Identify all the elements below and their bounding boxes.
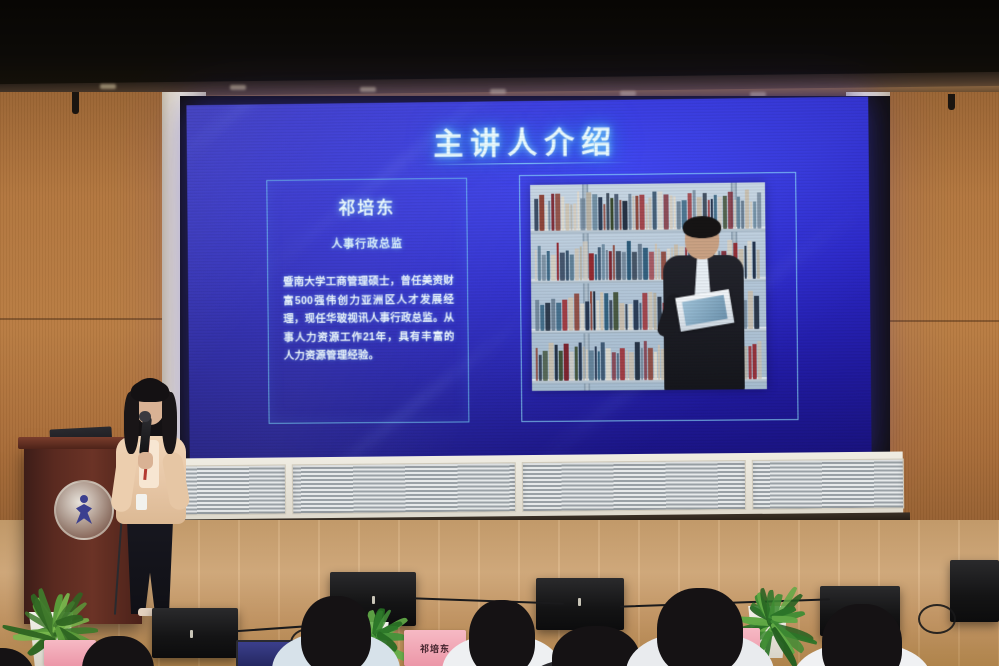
- book: [653, 293, 656, 330]
- book: [575, 347, 578, 381]
- institution-emblem-icon: [54, 480, 114, 540]
- book: [633, 300, 638, 330]
- book: [604, 293, 608, 330]
- audience-head: [0, 648, 35, 666]
- book: [628, 194, 631, 230]
- book: [652, 192, 656, 230]
- book: [622, 201, 627, 230]
- book: [613, 292, 618, 330]
- book: [639, 303, 641, 330]
- book: [595, 254, 597, 280]
- book: [753, 201, 756, 228]
- book: [570, 352, 574, 381]
- book: [566, 251, 569, 281]
- book: [609, 300, 612, 330]
- book: [617, 353, 619, 380]
- book: [565, 204, 569, 231]
- book: [613, 245, 615, 280]
- presenter-hand: [138, 452, 153, 469]
- wall-seam: [884, 320, 999, 322]
- book: [752, 242, 755, 279]
- book: [561, 197, 564, 231]
- book: [612, 352, 616, 380]
- conference-hall-photo: 主讲人介绍 祁培东 人事行政总监 暨南大学工商管理硕士，曾任美资财富500强伟创…: [0, 0, 999, 666]
- book: [754, 296, 759, 329]
- book: [573, 203, 576, 230]
- speaker-bio-text: 暨南大学工商管理硕士，曾任美资财富500强伟创力亚洲区人才发展经理，现任华玻视讯…: [283, 273, 455, 367]
- book: [642, 293, 647, 330]
- book: [750, 202, 752, 229]
- book: [577, 191, 579, 230]
- book: [583, 347, 585, 381]
- book: [542, 255, 546, 281]
- book: [548, 201, 550, 231]
- book: [619, 200, 621, 230]
- book: [748, 346, 751, 379]
- speaker-role: 人事行政总监: [268, 235, 467, 253]
- book: [555, 345, 558, 381]
- speaker-indicator-led: [578, 598, 581, 606]
- book: [583, 241, 588, 280]
- speaker-indicator-led: [190, 630, 193, 638]
- book: [629, 352, 634, 380]
- emblem-figure-icon: [73, 495, 95, 525]
- book: [545, 303, 550, 331]
- speaker-photo: [530, 182, 767, 391]
- book: [643, 248, 648, 280]
- presenter-badge: [136, 494, 147, 510]
- book: [551, 255, 556, 281]
- book: [586, 349, 588, 380]
- presenter-trousers: [125, 520, 175, 614]
- book: [549, 343, 554, 381]
- book: [564, 344, 569, 381]
- book: [610, 198, 613, 230]
- book: [559, 351, 563, 381]
- audience-member: [792, 604, 932, 666]
- book: [545, 205, 547, 231]
- book: [654, 352, 657, 380]
- book: [543, 351, 548, 381]
- book: [616, 251, 621, 280]
- book: [551, 299, 555, 331]
- led-presentation-screen[interactable]: 主讲人介绍 祁培东 人事行政总监 暨南大学工商管理硕士，曾任美资财富500强伟创…: [186, 97, 871, 466]
- book: [551, 194, 554, 231]
- audience-member: [626, 588, 774, 666]
- book: [648, 348, 653, 380]
- book: [632, 196, 634, 230]
- book: [589, 253, 594, 280]
- book: [622, 252, 626, 280]
- book: [601, 342, 605, 380]
- slide-title: 主讲人介绍: [187, 114, 869, 166]
- audience-head: [301, 596, 371, 666]
- book: [534, 199, 538, 231]
- speaker-bio-panel: 祁培东 人事行政总监 暨南大学工商管理硕士，曾任美资财富500强伟创力亚洲区人才…: [266, 178, 469, 424]
- book: [625, 304, 627, 330]
- book: [596, 300, 599, 330]
- book: [579, 343, 582, 381]
- book: [638, 244, 642, 280]
- book: [539, 355, 542, 381]
- audience-member: [272, 596, 400, 666]
- book: [606, 250, 608, 280]
- book: [593, 291, 595, 330]
- book: [606, 348, 611, 380]
- book: [595, 346, 597, 380]
- audience-member: [0, 648, 62, 666]
- book: [580, 246, 582, 280]
- book: [649, 252, 654, 280]
- book: [757, 341, 761, 379]
- presenter: [112, 378, 188, 624]
- book: [539, 195, 544, 231]
- book: [557, 243, 559, 281]
- book: [752, 344, 756, 379]
- ceiling-light: [230, 85, 246, 90]
- reader-hair: [683, 216, 721, 238]
- ceiling-fixture: [948, 94, 955, 110]
- book: [580, 303, 584, 330]
- book: [641, 348, 643, 380]
- book: [606, 193, 609, 230]
- microphone-head: [139, 411, 151, 422]
- book: [603, 204, 605, 230]
- speaker-photo-frame: [519, 172, 799, 422]
- book: [598, 197, 602, 230]
- book: [598, 247, 601, 280]
- book: [562, 300, 567, 331]
- speaker-name: 祁培东: [267, 193, 466, 220]
- presenter-hair-right: [162, 392, 177, 454]
- book: [598, 351, 600, 380]
- book: [757, 192, 761, 228]
- book: [620, 348, 625, 380]
- stage-monitor-speaker: [950, 560, 999, 622]
- book: [575, 248, 579, 280]
- book: [748, 291, 753, 329]
- air-vent: [292, 462, 516, 514]
- book: [648, 198, 651, 230]
- ceiling-fixture: [72, 92, 79, 114]
- book: [655, 244, 657, 280]
- book: [635, 196, 638, 230]
- air-vent: [752, 458, 904, 509]
- book: [589, 350, 594, 380]
- audience-head: [822, 604, 902, 666]
- presenter-hair-top: [131, 380, 169, 402]
- book: [627, 241, 631, 280]
- book: [602, 244, 605, 280]
- book: [568, 298, 573, 331]
- book: [570, 205, 572, 231]
- book: [628, 304, 632, 330]
- book: [747, 241, 751, 279]
- book: [540, 305, 544, 331]
- book: [570, 255, 574, 281]
- book: [580, 198, 585, 230]
- book: [614, 194, 618, 230]
- book: [619, 303, 624, 330]
- book: [535, 250, 537, 281]
- book: [556, 303, 561, 331]
- book: [592, 194, 597, 230]
- book: [600, 292, 603, 330]
- book: [560, 253, 565, 281]
- book: [536, 348, 538, 381]
- audience-head: [657, 588, 743, 666]
- book: [639, 195, 644, 230]
- book: [648, 292, 652, 330]
- book: [645, 204, 647, 230]
- book: [586, 192, 591, 230]
- book: [632, 252, 637, 280]
- air-vent: [522, 460, 746, 512]
- audience-head: [82, 636, 154, 666]
- book: [644, 341, 647, 380]
- ceiling-light: [490, 89, 506, 94]
- book: [538, 246, 541, 281]
- book-pages: [682, 295, 728, 326]
- book: [555, 194, 560, 231]
- book: [626, 350, 628, 380]
- book: [609, 251, 612, 280]
- ceiling-light: [360, 87, 376, 92]
- book: [585, 301, 589, 330]
- ceiling-light: [100, 84, 116, 89]
- presenter-hair-left: [124, 392, 139, 454]
- audience-member: [53, 636, 183, 666]
- book: [535, 300, 539, 331]
- book: [757, 250, 760, 279]
- person-reading-book: [659, 219, 749, 391]
- book: [574, 294, 579, 331]
- book: [635, 342, 640, 380]
- book: [590, 291, 592, 330]
- book: [547, 251, 550, 281]
